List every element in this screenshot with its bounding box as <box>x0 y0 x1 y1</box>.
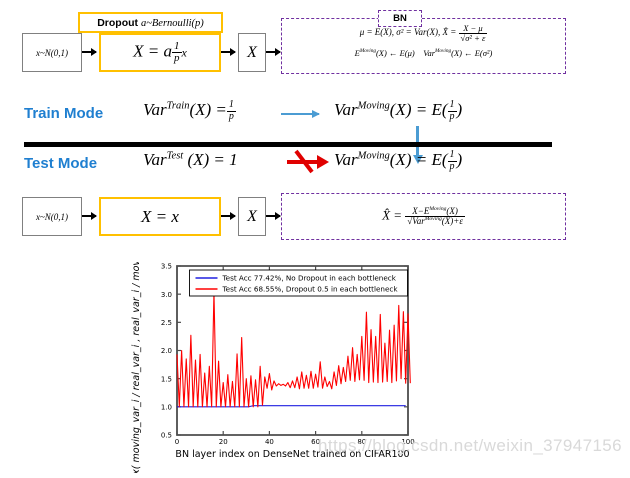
test-rhs-tail: ) <box>457 150 463 169</box>
train-mode-label: Train Mode <box>24 105 103 122</box>
test-input-label: x~N(0,1) <box>36 212 68 222</box>
test-rhs-num: 1 <box>448 150 457 160</box>
test-bn-den: √VarMoving(X)+ε <box>405 216 465 226</box>
bn-line1-num: X − μ <box>461 24 484 33</box>
train-op-tail: x <box>182 45 187 59</box>
train-arrow-2-icon <box>221 51 235 53</box>
test-bn-num-a: X−E <box>412 206 429 216</box>
red-crossed-arrow-icon <box>285 148 331 174</box>
bn-line2-left-sup: Moving <box>360 48 376 54</box>
bn-line1-den: √σ² + ε <box>459 33 488 43</box>
train-rhs-base: Var <box>334 100 358 119</box>
test-bn-num-sup: Moving <box>429 206 446 212</box>
bn-line2-right-rest: (X) ← E(σ²) <box>451 48 492 58</box>
svg-text:3.5: 3.5 <box>161 263 172 271</box>
train-out-box: X <box>238 33 266 72</box>
train-op-num: 1 <box>172 41 182 52</box>
train-input-box: x~N(0,1) <box>22 33 82 72</box>
svg-text:3.0: 3.0 <box>161 291 172 299</box>
svg-text:max( moving_var_i / real_var_i: max( moving_var_i / real_var_i , real_va… <box>131 262 142 473</box>
test-bn-den-b: (X)+ε <box>442 216 463 226</box>
train-arrow-3-icon <box>266 51 280 53</box>
variance-shift-diagram: Dropout a~Bernoulli(p) BN x~N(0,1) X = a… <box>0 0 630 262</box>
dropout-tag-bold: Dropout <box>97 17 138 29</box>
bn-tag-label: BN <box>393 13 407 24</box>
test-mode-rhs: VarMoving(X) = E(1p) <box>334 150 462 172</box>
train-op-box: X = a1px <box>99 33 221 72</box>
test-bn-lhs: X̂ = <box>382 207 402 222</box>
test-lhs-sup: Test <box>167 150 184 161</box>
test-bn-num-b: (X) <box>446 206 458 216</box>
bn-formula-line-1: μ = E(X), σ² = Var(X), X̂ = X − μ √σ² + … <box>282 19 565 42</box>
test-out-label: X <box>247 208 257 226</box>
svg-text:0.5: 0.5 <box>161 432 172 440</box>
test-mode-label: Test Mode <box>24 155 97 172</box>
svg-text:2.5: 2.5 <box>161 319 172 327</box>
bn-formula-line-2: EMoving(X) ← E(μ) VarMoving(X) ← E(σ²) <box>282 42 565 58</box>
train-mode-rhs: VarMoving(X) = E(1p) <box>334 100 462 122</box>
train-lhs-den: p <box>227 111 236 122</box>
test-arrow-2-icon <box>221 215 235 217</box>
train-lhs-num: 1 <box>227 100 236 110</box>
train-rhs-rest: (X) = E( <box>390 100 448 119</box>
test-arrow-1-icon <box>82 215 96 217</box>
train-rhs-sup: Moving <box>358 100 390 111</box>
bn-line2-left-rest: (X) ← E(μ) <box>376 48 415 58</box>
test-bn-den-a: √Var <box>407 216 424 226</box>
watermark-text: https://blog.csdn.net/weixin_37947156 <box>318 436 622 456</box>
test-lhs-rest: (X) = 1 <box>187 150 237 169</box>
test-arrow-3-icon <box>266 215 280 217</box>
bn-tag: BN <box>378 10 422 27</box>
train-input-label: x~N(0,1) <box>36 48 68 58</box>
train-rhs-num: 1 <box>448 100 457 110</box>
test-bn-num: X−EMoving(X) <box>410 207 460 216</box>
test-rhs-base: Var <box>334 150 358 169</box>
test-rhs-sup: Moving <box>358 150 390 161</box>
bn-formula-box: μ = E(X), σ² = Var(X), X̂ = X − μ √σ² + … <box>281 18 566 74</box>
train-lhs-rest: (X) = <box>189 100 226 119</box>
train-mode-lhs: VarTrain(X) =1p <box>143 100 236 122</box>
train-rhs-tail: ) <box>457 100 463 119</box>
svg-text:Test Acc 77.42%, No Dropout in: Test Acc 77.42%, No Dropout in each bott… <box>222 274 397 283</box>
bn-line2-right: Var <box>423 48 435 58</box>
train-out-label: X <box>247 44 257 62</box>
dropout-tag-expr: a~Bernoulli(p) <box>141 18 204 29</box>
test-lhs-base: Var <box>143 150 167 169</box>
train-test-separator <box>24 142 552 147</box>
train-lhs-base: Var <box>143 100 167 119</box>
svg-text:0: 0 <box>175 438 179 446</box>
svg-text:1.0: 1.0 <box>161 403 172 411</box>
test-mode-lhs: VarTest (X) = 1 <box>143 150 238 170</box>
train-arrow-1-icon <box>82 51 96 53</box>
svg-text:1.5: 1.5 <box>161 375 172 383</box>
dropout-tag: Dropout a~Bernoulli(p) <box>78 12 223 33</box>
bn-line2-right-sup: Moving <box>435 48 451 54</box>
svg-text:Test Acc 68.55%, Dropout 0.5 i: Test Acc 68.55%, Dropout 0.5 in each bot… <box>222 285 399 294</box>
svg-text:40: 40 <box>265 438 274 446</box>
test-bn-den-sup: Moving <box>425 216 442 222</box>
test-op-label: X = x <box>141 207 179 227</box>
train-rhs-den: p <box>448 111 457 122</box>
test-rhs-rest: (X) = E( <box>390 150 448 169</box>
train-op-den: p <box>172 52 182 64</box>
bn-line1-lead: μ = E(X), σ² = Var(X), X̂ = <box>360 27 457 37</box>
svg-text:2.0: 2.0 <box>161 347 172 355</box>
svg-text:20: 20 <box>219 438 228 446</box>
test-input-box: x~N(0,1) <box>22 197 82 236</box>
test-out-box: X <box>238 197 266 236</box>
test-op-box: X = x <box>99 197 221 236</box>
train-lhs-sup: Train <box>167 100 190 111</box>
train-op-lhs: X = a <box>133 41 172 60</box>
train-implies-arrow-icon <box>281 113 319 115</box>
test-bn-formula-box: X̂ = X−EMoving(X) √VarMoving(X)+ε <box>281 193 566 240</box>
test-rhs-den: p <box>448 161 457 172</box>
